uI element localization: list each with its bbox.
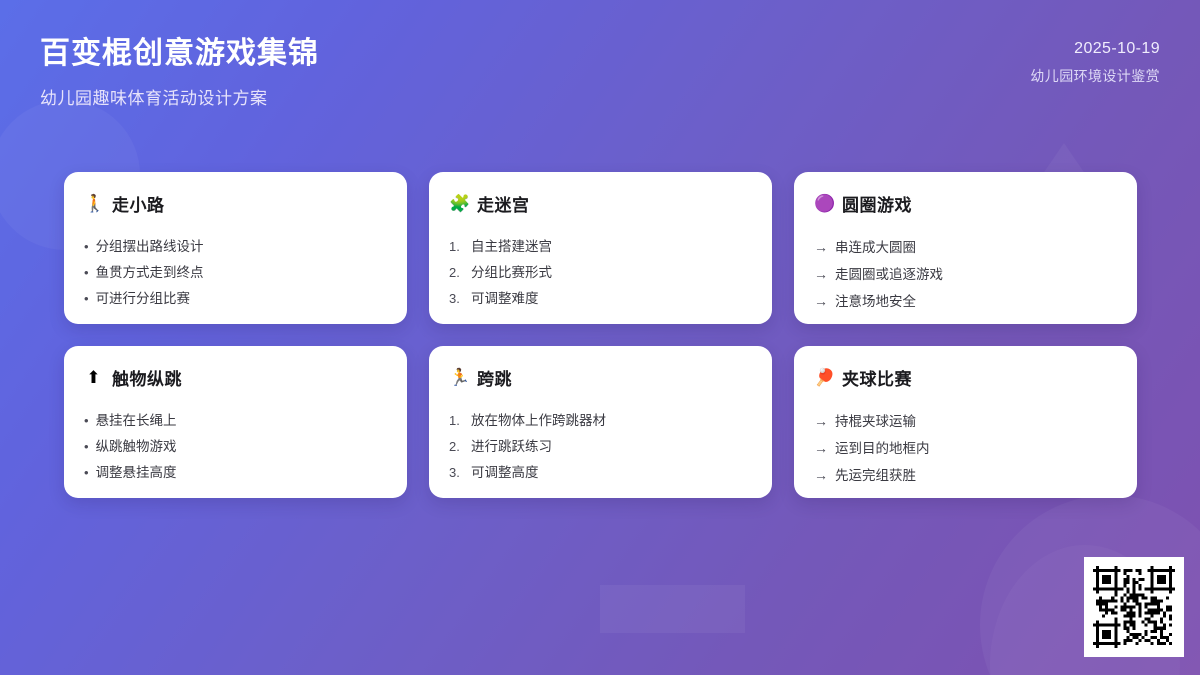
list-item: 2.分组比赛形式 — [449, 263, 752, 284]
list-item: •悬挂在长绳上 — [84, 411, 387, 432]
list-marker-number: 3. — [449, 463, 464, 483]
arrow-icon: → — [814, 237, 828, 259]
header-right: 2025-10-19 幼儿园环境设计鉴赏 — [1030, 34, 1160, 86]
list-marker-bullet: • — [84, 237, 89, 257]
list-item: 1.放在物体上作跨跳器材 — [449, 411, 752, 432]
list-item-text: 可进行分组比赛 — [96, 289, 387, 310]
card-list: 1.自主搭建迷宫2.分组比赛形式3.可调整难度 — [449, 237, 752, 310]
arrow-icon: → — [814, 465, 828, 487]
list-item-text: 自主搭建迷宫 — [471, 237, 752, 258]
list-item-text: 悬挂在长绳上 — [96, 411, 387, 432]
card-title: 跨跳 — [477, 365, 512, 390]
header-date: 2025-10-19 — [1030, 40, 1160, 58]
list-item: •鱼贯方式走到终点 — [84, 263, 387, 284]
list-marker-number: 3. — [449, 289, 464, 309]
card-title: 触物纵跳 — [112, 365, 182, 390]
card-list: 1.放在物体上作跨跳器材2.进行跳跃练习3.可调整高度 — [449, 411, 752, 484]
card-header: 🏓夹球比赛 — [814, 365, 1117, 390]
list-item-text: 可调整高度 — [471, 463, 752, 484]
activity-card[interactable]: 🏓夹球比赛→持棍夹球运输→运到目的地框内→先运完组获胜 — [794, 346, 1137, 498]
page-title: 百变棍创意游戏集锦 — [40, 34, 319, 73]
list-item-text: 走圆圈或追逐游戏 — [835, 265, 1117, 286]
list-item-text: 串连成大圆圈 — [835, 238, 1117, 259]
card-title: 走小路 — [112, 191, 165, 216]
card-list: →串连成大圆圈→走圆圈或追逐游戏→注意场地安全 — [814, 237, 1117, 313]
list-marker-bullet: • — [84, 411, 89, 431]
arrow-icon: → — [814, 411, 828, 433]
list-item: 1.自主搭建迷宫 — [449, 237, 752, 258]
list-item: 3.可调整高度 — [449, 463, 752, 484]
arrow-icon: → — [814, 264, 828, 286]
list-item-text: 纵跳触物游戏 — [96, 437, 387, 458]
page-subtitle: 幼儿园趣味体育活动设计方案 — [40, 84, 319, 109]
list-item: →注意场地安全 — [814, 291, 1117, 313]
list-marker-number: 1. — [449, 411, 464, 431]
list-item-text: 运到目的地框内 — [835, 439, 1117, 460]
list-item: 2.进行跳跃练习 — [449, 437, 752, 458]
decorative-rectangle — [600, 585, 745, 633]
running-person-icon: 🏃 — [449, 369, 468, 386]
card-header: 🏃跨跳 — [449, 365, 752, 390]
list-item-text: 可调整难度 — [471, 289, 752, 310]
activity-card[interactable]: 🚶走小路•分组摆出路线设计•鱼贯方式走到终点•可进行分组比赛 — [64, 172, 407, 324]
list-marker-number: 1. — [449, 237, 464, 257]
card-list: •悬挂在长绳上•纵跳触物游戏•调整悬挂高度 — [84, 411, 387, 484]
card-header: 🧩走迷宫 — [449, 191, 752, 216]
list-marker-bullet: • — [84, 463, 89, 483]
list-item-text: 进行跳跃练习 — [471, 437, 752, 458]
activity-card[interactable]: 🟣圆圈游戏→串连成大圆圈→走圆圈或追逐游戏→注意场地安全 — [794, 172, 1137, 324]
card-header: 🚶走小路 — [84, 191, 387, 216]
list-item-text: 放在物体上作跨跳器材 — [471, 411, 752, 432]
list-item: →走圆圈或追逐游戏 — [814, 264, 1117, 286]
card-title: 夹球比赛 — [842, 365, 912, 390]
list-marker-number: 2. — [449, 437, 464, 457]
list-item: •可进行分组比赛 — [84, 289, 387, 310]
qr-code[interactable] — [1084, 557, 1184, 657]
activity-card[interactable]: ⬆触物纵跳•悬挂在长绳上•纵跳触物游戏•调整悬挂高度 — [64, 346, 407, 498]
card-title: 走迷宫 — [477, 191, 530, 216]
header-left: 百变棍创意游戏集锦 幼儿园趣味体育活动设计方案 — [40, 34, 319, 109]
qr-code-image — [1090, 563, 1178, 651]
list-marker-bullet: • — [84, 437, 89, 457]
arrow-icon: → — [814, 291, 828, 313]
list-item: →运到目的地框内 — [814, 438, 1117, 460]
card-header: ⬆触物纵跳 — [84, 365, 387, 390]
list-item: •分组摆出路线设计 — [84, 237, 387, 258]
header-organization: 幼儿园环境设计鉴赏 — [1030, 66, 1160, 86]
list-item: •调整悬挂高度 — [84, 463, 387, 484]
puzzle-piece-icon: 🧩 — [449, 195, 468, 212]
list-item: →串连成大圆圈 — [814, 237, 1117, 259]
arrow-icon: → — [814, 438, 828, 460]
list-item-text: 注意场地安全 — [835, 292, 1117, 313]
card-header: 🟣圆圈游戏 — [814, 191, 1117, 216]
list-item-text: 分组比赛形式 — [471, 263, 752, 284]
list-item-text: 分组摆出路线设计 — [96, 237, 387, 258]
list-item-text: 持棍夹球运输 — [835, 412, 1117, 433]
list-item-text: 先运完组获胜 — [835, 466, 1117, 487]
ping-pong-paddle-icon: 🏓 — [814, 369, 833, 386]
list-item: •纵跳触物游戏 — [84, 437, 387, 458]
card-list: →持棍夹球运输→运到目的地框内→先运完组获胜 — [814, 411, 1117, 487]
activity-card-grid: 🚶走小路•分组摆出路线设计•鱼贯方式走到终点•可进行分组比赛🧩走迷宫1.自主搭建… — [64, 172, 1136, 498]
list-item-text: 鱼贯方式走到终点 — [96, 263, 387, 284]
list-marker-number: 2. — [449, 263, 464, 283]
card-list: •分组摆出路线设计•鱼贯方式走到终点•可进行分组比赛 — [84, 237, 387, 310]
up-arrow-icon: ⬆ — [84, 369, 103, 386]
purple-circle-icon: 🟣 — [814, 195, 833, 212]
activity-card[interactable]: 🏃跨跳1.放在物体上作跨跳器材2.进行跳跃练习3.可调整高度 — [429, 346, 772, 498]
list-item: →先运完组获胜 — [814, 465, 1117, 487]
list-item-text: 调整悬挂高度 — [96, 463, 387, 484]
activity-card[interactable]: 🧩走迷宫1.自主搭建迷宫2.分组比赛形式3.可调整难度 — [429, 172, 772, 324]
page-header: 百变棍创意游戏集锦 幼儿园趣味体育活动设计方案 2025-10-19 幼儿园环境… — [0, 0, 1200, 150]
card-title: 圆圈游戏 — [842, 191, 912, 216]
walking-person-icon: 🚶 — [84, 195, 103, 212]
list-marker-bullet: • — [84, 263, 89, 283]
list-marker-bullet: • — [84, 289, 89, 309]
list-item: 3.可调整难度 — [449, 289, 752, 310]
list-item: →持棍夹球运输 — [814, 411, 1117, 433]
